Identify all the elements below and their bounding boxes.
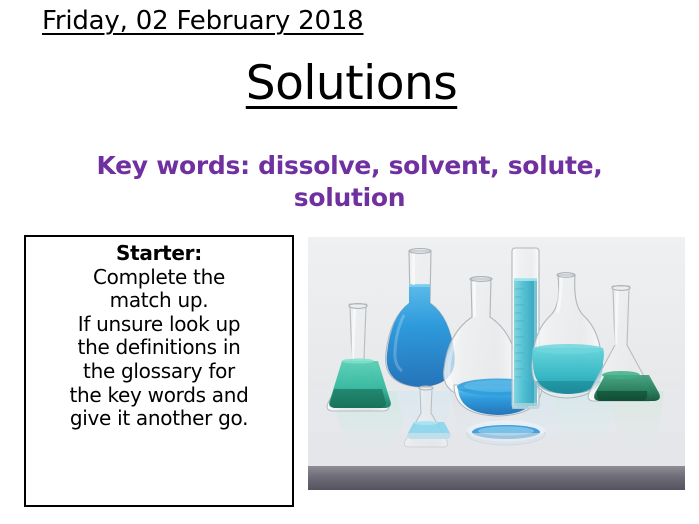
starter-heading: Starter: xyxy=(32,242,286,266)
slide-title-container: Solutions xyxy=(0,56,699,111)
starter-activity-box: Starter: Complete the match up. If unsur… xyxy=(24,235,294,507)
graduated-cylinder-cyan xyxy=(512,248,539,409)
glassware-photo xyxy=(308,237,685,490)
glassware-illustration xyxy=(308,237,685,490)
starter-instructions: Complete the match up. If unsure look up… xyxy=(32,266,286,431)
page-title: Solutions xyxy=(242,56,457,111)
key-words-text: Key words: dissolve, solvent, solute, so… xyxy=(40,150,659,214)
slide-date: Friday, 02 February 2018 xyxy=(42,6,364,36)
